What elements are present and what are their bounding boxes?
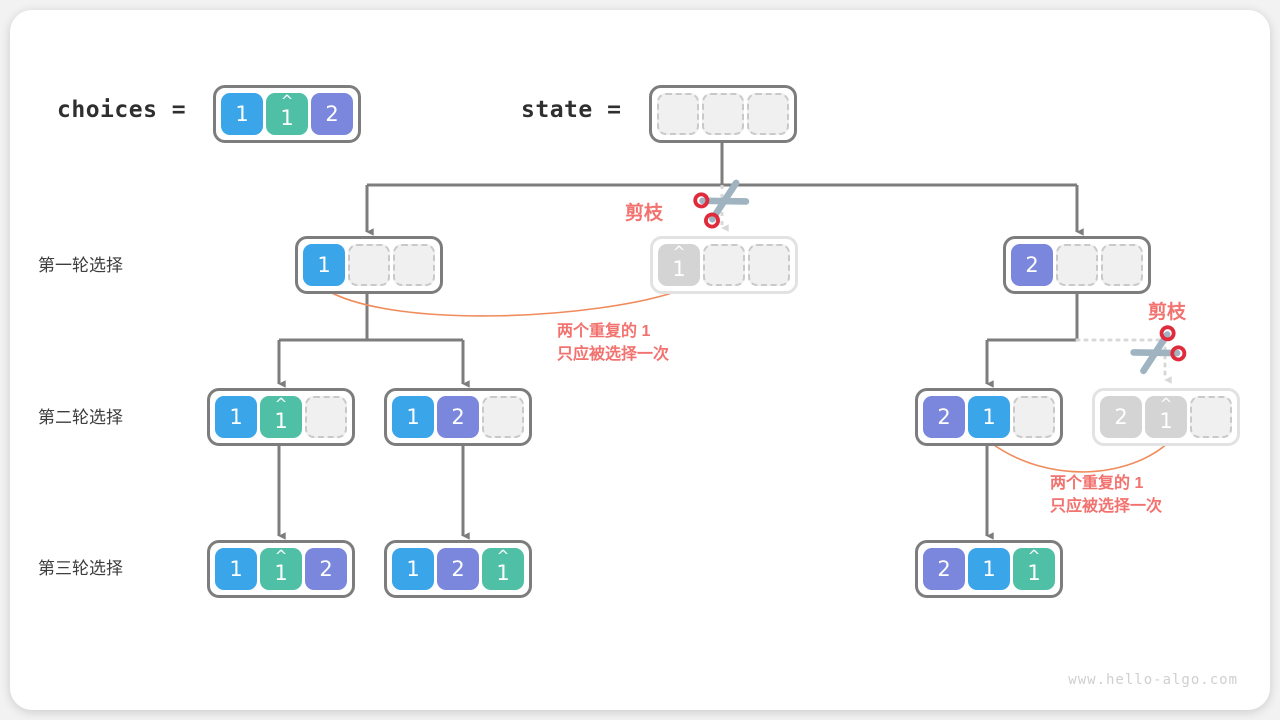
duplicate-marker-icon: ^ (266, 94, 308, 109)
array-cell-value: 1 (317, 255, 330, 276)
duplicate-marker-icon: ^ (1145, 397, 1187, 412)
array-cell: ^1 (260, 548, 302, 590)
duplicate-note-right: 两个重复的 1 只应被选择一次 (1050, 472, 1162, 518)
state-array (649, 85, 797, 143)
array-cell: 2 (305, 548, 347, 590)
array-cell-value: 2 (451, 559, 464, 580)
array-cell-value: 2 (937, 407, 950, 428)
state-label: state = (521, 97, 621, 123)
duplicate-marker-icon: ^ (260, 397, 302, 412)
array-cell: ^1 (260, 396, 302, 438)
array-cell-value: 1 (274, 563, 287, 584)
choices-label: choices = (57, 97, 186, 123)
array-cell: 2 (437, 396, 479, 438)
node-round2-b: 12 (384, 388, 532, 446)
array-cell: 1 (221, 93, 263, 135)
array-cell-value: 1 (1159, 411, 1172, 432)
array-cell-value: 1 (235, 104, 248, 125)
array-cell-value: 1 (1027, 563, 1040, 584)
array-cell (482, 396, 524, 438)
duplicate-marker-icon: ^ (260, 549, 302, 564)
duplicate-note-left: 两个重复的 1 只应被选择一次 (557, 320, 669, 366)
node-round1-right: 2 (1003, 236, 1151, 294)
array-cell-value: 1 (229, 407, 242, 428)
array-cell (1190, 396, 1232, 438)
duplicate-arc-left (328, 291, 678, 316)
duplicate-note-left-line2: 只应被选择一次 (557, 343, 669, 366)
array-cell: 2 (1011, 244, 1053, 286)
array-cell-value: 1 (496, 563, 509, 584)
array-cell (747, 93, 789, 135)
array-cell (393, 244, 435, 286)
node-round1-middle-pruned: ^1 (650, 236, 798, 294)
row-label-2: 第二轮选择 (38, 403, 123, 428)
duplicate-note-right-line1: 两个重复的 1 (1050, 472, 1162, 495)
array-cell-value: 2 (1114, 407, 1127, 428)
node-round1-left: 1 (295, 236, 443, 294)
array-cell: 1 (303, 244, 345, 286)
array-cell-value: 1 (982, 407, 995, 428)
array-cell: ^1 (658, 244, 700, 286)
array-cell-value: 1 (406, 559, 419, 580)
row-label-3: 第三轮选择 (38, 554, 123, 579)
array-cell (1013, 396, 1055, 438)
array-cell: 2 (923, 396, 965, 438)
node-round3-c: 21^1 (915, 540, 1063, 598)
array-cell-value: 2 (937, 559, 950, 580)
array-cell: ^1 (482, 548, 524, 590)
array-cell-value: 1 (672, 259, 685, 280)
array-cell (703, 244, 745, 286)
array-cell-value: 1 (274, 411, 287, 432)
node-round2-a: 1^1 (207, 388, 355, 446)
diagram-canvas: choices = 1^12 state = 第一轮选择 第二轮选择 第三轮选择… (0, 0, 1280, 720)
array-cell: ^1 (1013, 548, 1055, 590)
array-cell: 1 (215, 396, 257, 438)
array-cell-value: 2 (325, 104, 338, 125)
array-cell: ^1 (266, 93, 308, 135)
node-round2-c: 21 (915, 388, 1063, 446)
array-cell (702, 93, 744, 135)
duplicate-note-left-line1: 两个重复的 1 (557, 320, 669, 343)
array-cell (305, 396, 347, 438)
watermark: www.hello-algo.com (1068, 672, 1238, 688)
node-round3-a: 1^12 (207, 540, 355, 598)
array-cell (748, 244, 790, 286)
row-label-1: 第一轮选择 (38, 251, 123, 276)
choices-array: 1^12 (213, 85, 361, 143)
array-cell (657, 93, 699, 135)
duplicate-marker-icon: ^ (482, 549, 524, 564)
duplicate-note-right-line2: 只应被选择一次 (1050, 495, 1162, 518)
array-cell: ^1 (1145, 396, 1187, 438)
node-round3-b: 12^1 (384, 540, 532, 598)
array-cell-value: 1 (280, 108, 293, 129)
array-cell (348, 244, 390, 286)
array-cell: 1 (968, 396, 1010, 438)
array-cell (1101, 244, 1143, 286)
array-cell-value: 2 (319, 559, 332, 580)
array-cell-value: 1 (982, 559, 995, 580)
duplicate-marker-icon: ^ (658, 245, 700, 260)
prune-label-top: 剪枝 (625, 198, 663, 225)
array-cell: 2 (437, 548, 479, 590)
array-cell: 1 (392, 396, 434, 438)
array-cell: 1 (968, 548, 1010, 590)
prune-label-right: 剪枝 (1148, 297, 1186, 324)
array-cell: 2 (923, 548, 965, 590)
array-cell-value: 2 (1025, 255, 1038, 276)
array-cell: 1 (215, 548, 257, 590)
scissors-right-icon (1130, 325, 1186, 377)
array-cell-value: 1 (229, 559, 242, 580)
array-cell: 2 (311, 93, 353, 135)
node-round2-d-pruned: 2^1 (1092, 388, 1240, 446)
array-cell: 2 (1100, 396, 1142, 438)
array-cell (1056, 244, 1098, 286)
duplicate-marker-icon: ^ (1013, 549, 1055, 564)
array-cell: 1 (392, 548, 434, 590)
array-cell-value: 1 (406, 407, 419, 428)
array-cell-value: 2 (451, 407, 464, 428)
duplicate-arc-right (991, 443, 1168, 472)
